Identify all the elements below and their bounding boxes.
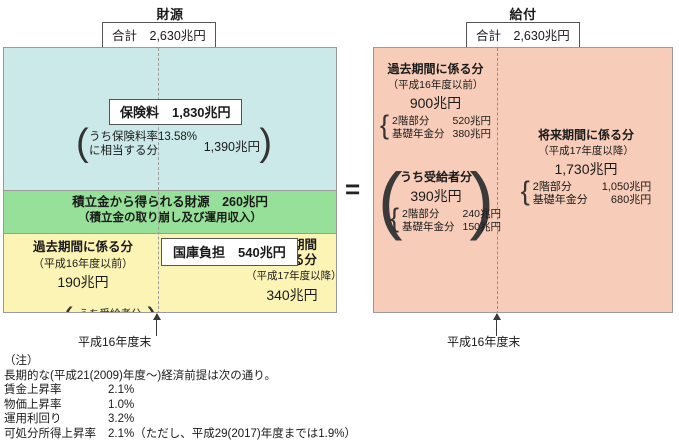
breakdown-value: 520兆円: [444, 115, 491, 128]
benefit-future-period-block: 将来期間に係る分 （平成17年度以降） 1,730兆円 { 2階部分 1,050…: [498, 126, 673, 212]
premium-rate-text: うち保険料率13.58% に相当する分: [89, 131, 197, 158]
assumption-value: 1.0%: [108, 398, 356, 413]
past-recipient-label: うち受給者分: [72, 308, 148, 313]
benefit-recipient-breakdown: { 2階部分 240兆円 基礎年金分 150兆円: [390, 208, 501, 234]
breakdown-label: 2階部分: [398, 208, 455, 221]
benefit-recipient-block: ( ) うち受給者分 390兆円 { 2階部分 240兆円 基礎年金分 150兆…: [378, 164, 494, 240]
breakdown-value: 680兆円: [588, 194, 652, 207]
assumption-label: 物価上昇率: [4, 398, 108, 413]
table-row: 基礎年金分 380兆円: [388, 128, 491, 141]
assumption-label: 可処分所得上昇率: [4, 427, 108, 441]
assumption-value: 3.2%: [108, 412, 356, 427]
breakdown-label: 基礎年金分: [529, 194, 588, 207]
breakdown-label: 2階部分: [388, 115, 445, 128]
table-row: 基礎年金分 150兆円: [398, 221, 501, 234]
page-title-left: 財源: [3, 4, 337, 23]
benefit-recipient-heading: うち受給者分: [390, 168, 482, 185]
treasury-contribution-box: 国庫負担 540兆円: [161, 238, 298, 266]
footnote: （注） 長期的な(平成21(2009)年度～)経済前提は次の通り。 賃金上昇率 …: [4, 354, 356, 441]
benefit-past-range: （平成16年度以前）: [374, 77, 497, 92]
past-period-heading: 過去期間に係る分: [8, 236, 158, 255]
benefit-past-breakdown: { 2階部分 520兆円 基礎年金分 380兆円: [380, 115, 491, 141]
paren-open-icon: (: [76, 124, 89, 162]
reserve-fund-title: 積立金から得られる財源 260兆円: [4, 194, 336, 210]
total-box-right: 合計 2,630兆円: [466, 22, 580, 48]
assumption-value: 2.1%（ただし、平成29(2017)年度までは1.9%）: [108, 427, 356, 441]
breakdown-label: 2階部分: [529, 181, 588, 194]
future-period-range: （平成17年度以降）: [246, 268, 337, 283]
equals-sign: =: [345, 174, 360, 205]
premium-amount-box: 保険料 1,830兆円: [109, 99, 242, 125]
breakdown-value: 1,050兆円: [588, 181, 652, 194]
benefit-future-range: （平成17年度以降）: [498, 143, 673, 158]
premium-rate-note: ( うち保険料率13.58% に相当する分 1,390兆円 ): [76, 126, 272, 164]
table-row: 可処分所得上昇率 2.1%（ただし、平成29(2017)年度までは1.9%）: [4, 427, 356, 441]
breakdown-value: 380兆円: [444, 128, 491, 141]
table-row: 運用利回り 3.2%: [4, 412, 356, 427]
past-recipient-note: ( ) うち受給者分 80兆円: [62, 304, 158, 313]
footnote-lead: 長期的な(平成21(2009)年度～)経済前提は次の通り。: [4, 369, 356, 384]
year-end-label-right: 平成16年度末: [447, 333, 520, 350]
table-row: 基礎年金分 680兆円: [529, 194, 652, 207]
paren-close-icon: ): [259, 124, 272, 162]
table-row: 2階部分 240兆円: [398, 208, 501, 221]
brace-icon: {: [390, 205, 399, 232]
footnote-assumptions-table: 賃金上昇率 2.1% 物価上昇率 1.0% 運用利回り 3.2% 可処分所得上昇…: [4, 383, 356, 441]
breakdown-label: 基礎年金分: [398, 221, 455, 234]
past-period-value: 190兆円: [8, 272, 158, 292]
past-recipient-inner: うち受給者分 80兆円: [72, 308, 148, 313]
total-box-left: 合計 2,630兆円: [102, 22, 216, 48]
future-period-value: 340兆円: [246, 285, 337, 305]
funding-panel: 保険料 1,830兆円 ( うち保険料率13.58% に相当する分 1,390兆…: [3, 47, 337, 313]
past-period-funding-block: 過去期間に係る分 （平成16年度以前） 190兆円: [8, 236, 158, 292]
breakdown-label: 基礎年金分: [388, 128, 445, 141]
table-row: 物価上昇率 1.0%: [4, 398, 356, 413]
reserve-fund-subtitle: （積立金の取り崩し及び運用収入）: [4, 210, 336, 226]
paren-close-icon: ): [147, 302, 158, 313]
assumption-label: 運用利回り: [4, 412, 108, 427]
benefit-recipient-inner: うち受給者分 390兆円 { 2階部分 240兆円 基礎年金分 150兆円: [390, 168, 482, 239]
benefit-future-breakdown: { 2階部分 1,050兆円 基礎年金分 680兆円: [521, 181, 652, 207]
past-period-range: （平成16年度以前）: [8, 255, 158, 271]
benefit-panel: 過去期間に係る分 （平成16年度以前） 900兆円 { 2階部分 520兆円 基…: [373, 47, 673, 313]
benefit-past-period-block: 過去期間に係る分 （平成16年度以前） 900兆円 { 2階部分 520兆円 基…: [374, 60, 497, 146]
up-arrow-icon: [156, 314, 157, 336]
page-title-right: 給付: [373, 4, 673, 23]
benefit-past-value: 900兆円: [374, 93, 497, 113]
table-row: 2階部分 520兆円: [388, 115, 491, 128]
brace-icon: {: [380, 112, 389, 139]
brace-icon: {: [521, 178, 530, 205]
assumption-label: 賃金上昇率: [4, 383, 108, 398]
table-row: 2階部分 1,050兆円: [529, 181, 652, 194]
benefit-past-heading: 過去期間に係る分: [374, 60, 497, 77]
table-row: 賃金上昇率 2.1%: [4, 383, 356, 398]
footnote-heading: （注）: [4, 354, 356, 369]
year-end-label-left: 平成16年度末: [78, 333, 151, 350]
benefit-recipient-value: 390兆円: [390, 186, 482, 206]
period-divider-left: [158, 48, 159, 313]
breakdown-value: 240兆円: [455, 208, 502, 221]
assumption-value: 2.1%: [108, 383, 356, 398]
breakdown-value: 150兆円: [455, 221, 502, 234]
premium-rate-amount: 1,390兆円: [204, 141, 260, 155]
benefit-future-heading: 将来期間に係る分: [498, 126, 673, 143]
reserve-fund-label: 積立金から得られる財源 260兆円 （積立金の取り崩し及び運用収入）: [4, 194, 336, 226]
